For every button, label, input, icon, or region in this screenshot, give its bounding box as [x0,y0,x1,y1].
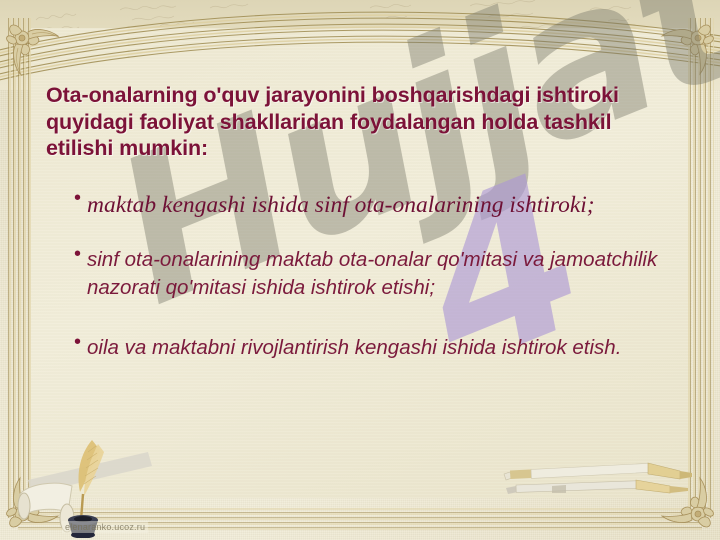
list-item-text: sinf ota-onalarining maktab ota-onalar q… [87,246,682,302]
bullet-marker-icon: • [74,244,81,264]
presentation-slide: Hujjat 4 Ota-onalarning o'quv jarayonini… [0,0,720,540]
list-item-text: oila va maktabni rivojlantirish kengashi… [87,334,682,362]
list-item: • oila va maktabni rivojlantirish kengas… [74,334,682,362]
slide-content: Ota-onalarning o'quv jarayonini boshqari… [0,0,720,540]
bullet-list: • maktab kengashi ishida sinf ota-onalar… [74,190,682,362]
list-item: • sinf ota-onalarining maktab ota-onalar… [74,246,682,302]
list-item-text: maktab kengashi ishida sinf ota-onalarin… [87,190,682,220]
bullet-marker-icon: • [74,332,81,352]
slide-title: Ota-onalarning o'quv jarayonini boshqari… [46,82,676,162]
list-item: • maktab kengashi ishida sinf ota-onalar… [74,190,682,220]
bullet-marker-icon: • [74,188,81,208]
source-credit-watermark: elenaranko.ucoz.ru [62,521,148,533]
